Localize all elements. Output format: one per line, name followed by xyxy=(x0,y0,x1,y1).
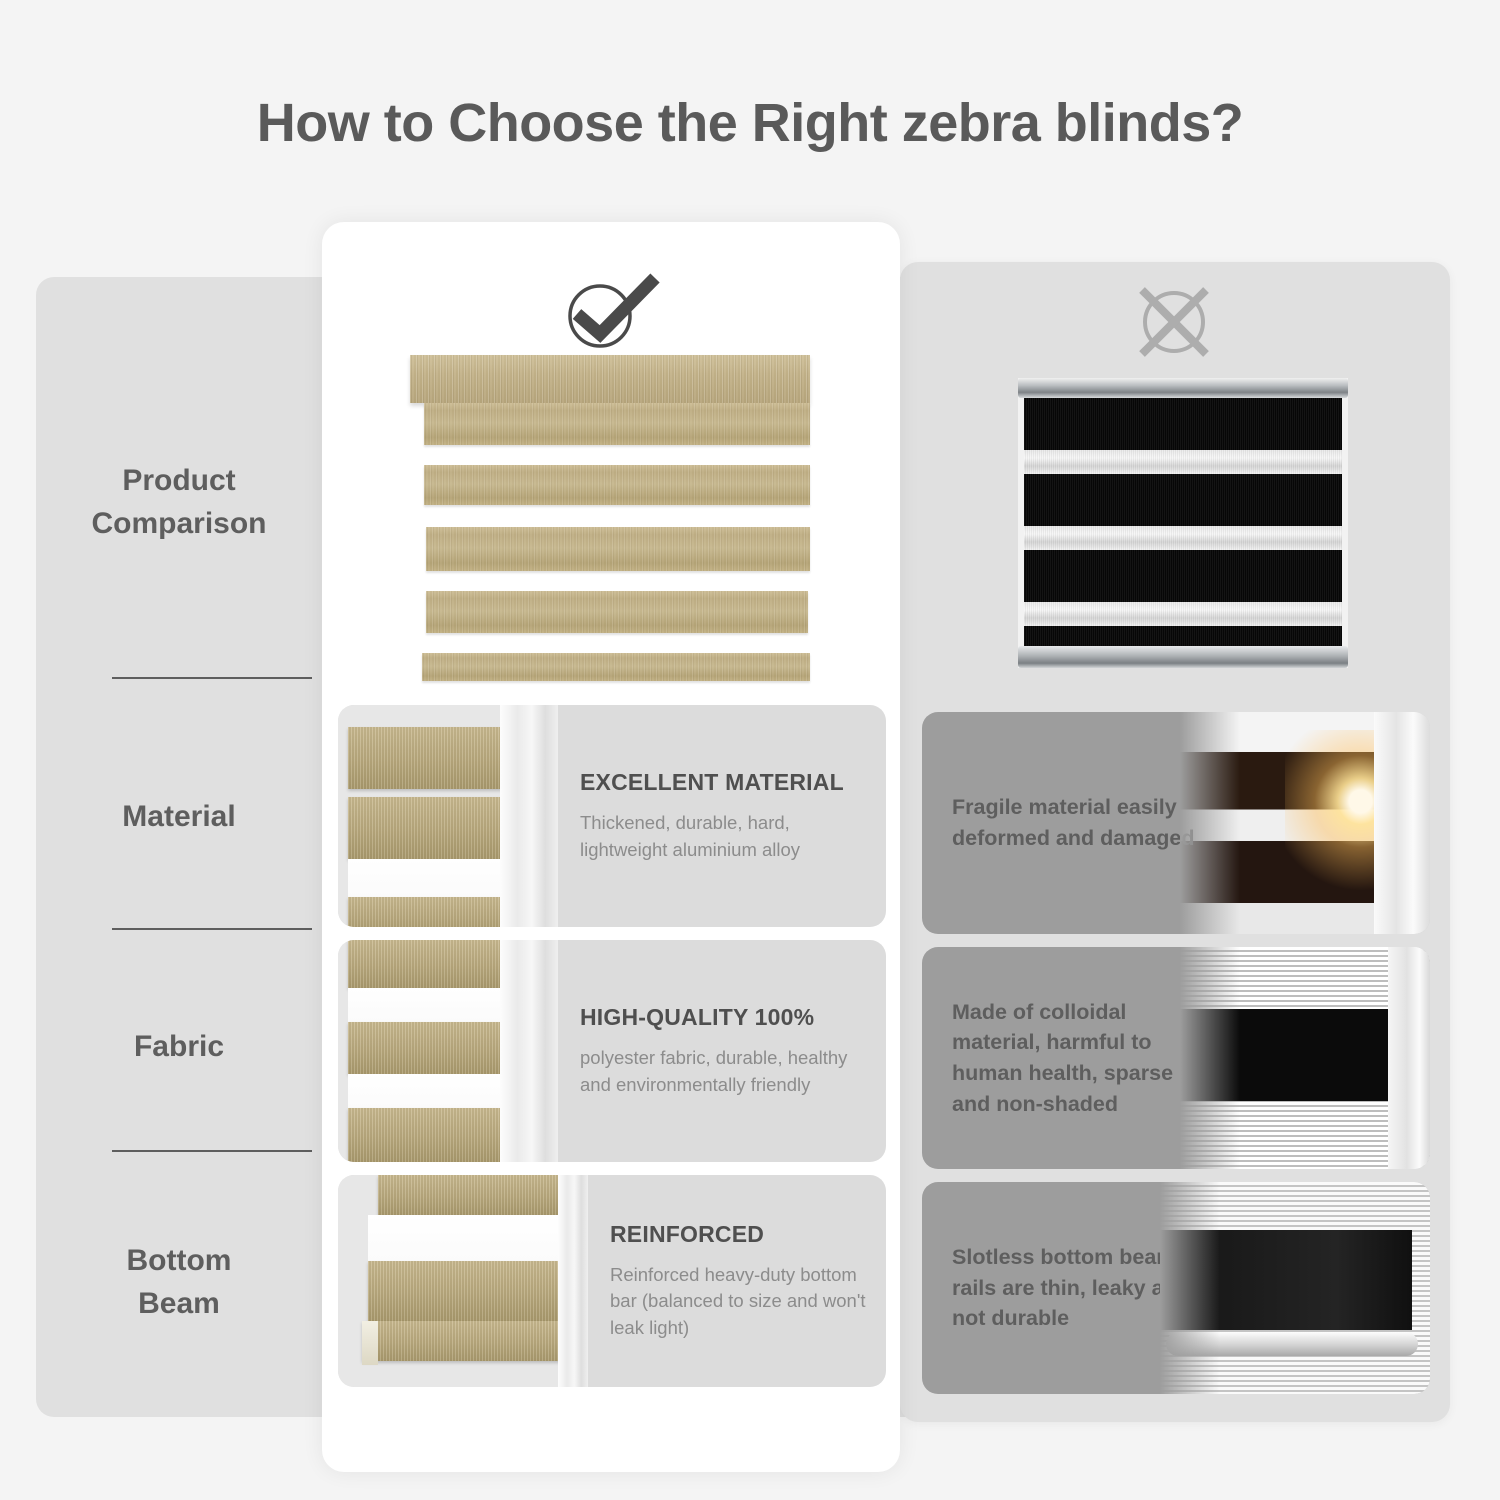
photo-fade-mask xyxy=(1180,712,1240,934)
good-card-material: EXCELLENT MATERIAL Thickened, durable, h… xyxy=(338,705,886,927)
good-slat-2 xyxy=(424,465,810,505)
sidebar-item-material: Material xyxy=(36,792,322,842)
good-card-bottom-beam: REINFORCED Reinforced heavy-duty bottom … xyxy=(338,1175,886,1387)
bad-card-bottom-beam: Slotless bottom beam rails are thin, lea… xyxy=(922,1182,1430,1394)
window-frame-edge xyxy=(1388,947,1430,1169)
blind-slat xyxy=(348,727,518,789)
window-frame xyxy=(558,1175,588,1387)
window-frame-edge xyxy=(1374,712,1430,934)
sidebar-item-bottom-beam: Bottom Beam xyxy=(36,1227,322,1337)
good-card-fabric-text: HIGH-QUALITY 100% polyester fabric, dura… xyxy=(558,940,886,1162)
bad-card-bottom-beam-photo xyxy=(1160,1182,1430,1394)
infographic-root: How to Choose the Right zebra blinds? Pr… xyxy=(0,0,1500,1500)
good-card-material-photo xyxy=(338,705,558,927)
blind-slat xyxy=(348,940,518,988)
blind-slat xyxy=(348,797,518,859)
bad-headrail xyxy=(1018,378,1348,398)
good-slat-4 xyxy=(426,591,808,633)
window-frame xyxy=(500,705,558,927)
good-card-bottom-beam-title: REINFORCED xyxy=(610,1221,868,1248)
bad-card-material-photo xyxy=(1180,712,1430,934)
good-card-bottom-beam-text: REINFORCED Reinforced heavy-duty bottom … xyxy=(588,1175,886,1387)
sidebar-label-bottom-beam: Bottom Beam xyxy=(127,1239,232,1326)
check-circle-icon xyxy=(555,272,665,350)
blind-slat xyxy=(348,1108,518,1162)
category-sidebar: Product Comparison Material Fabric Botto… xyxy=(36,277,322,1417)
bad-product-image xyxy=(1018,378,1348,668)
good-card-material-body: Thickened, durable, hard, lightweight al… xyxy=(580,810,868,863)
blind-slat xyxy=(368,1261,568,1321)
bad-card-fabric-photo xyxy=(1180,947,1430,1169)
sidebar-item-product-comparison: Product Comparison xyxy=(36,447,322,557)
sidebar-label-material: Material xyxy=(122,795,235,839)
photo-fade-mask xyxy=(1160,1182,1220,1394)
cross-circle-icon xyxy=(1128,282,1220,358)
good-headrail xyxy=(410,355,810,403)
bad-card-fabric-text: Made of colloidal material, harmful to h… xyxy=(952,947,1202,1169)
window-frame xyxy=(500,940,558,1162)
blind-sheer xyxy=(368,1215,568,1261)
bad-card-fabric: Made of colloidal material, harmful to h… xyxy=(922,947,1430,1169)
blind-slat xyxy=(348,897,518,927)
good-product-image xyxy=(410,355,810,700)
sidebar-label-product-comparison: Product Comparison xyxy=(91,459,266,546)
good-card-fabric-photo xyxy=(338,940,558,1162)
sidebar-divider-1 xyxy=(112,677,312,679)
good-card-fabric: HIGH-QUALITY 100% polyester fabric, dura… xyxy=(338,940,886,1162)
blind-sheer xyxy=(348,988,518,1022)
blind-stack xyxy=(338,1175,588,1387)
reinforced-bottom-bar xyxy=(362,1321,568,1361)
good-card-material-text: EXCELLENT MATERIAL Thickened, durable, h… xyxy=(558,705,886,927)
bottom-bar-endcap xyxy=(362,1321,378,1365)
sidebar-divider-3 xyxy=(112,1150,312,1152)
bad-card-material-text: Fragile material easily deformed and dam… xyxy=(952,712,1202,934)
blind-sheer xyxy=(348,1074,518,1108)
sidebar-divider-2 xyxy=(112,928,312,930)
bad-card-material: Fragile material easily deformed and dam… xyxy=(922,712,1430,934)
good-card-fabric-body: polyester fabric, durable, healthy and e… xyxy=(580,1045,868,1098)
sidebar-item-fabric: Fabric xyxy=(36,1022,322,1072)
blind-sheer xyxy=(348,859,518,897)
sidebar-label-fabric: Fabric xyxy=(134,1025,224,1069)
bad-bottom-rail xyxy=(1018,646,1348,668)
blind-slat xyxy=(378,1175,568,1215)
page-title: How to Choose the Right zebra blinds? xyxy=(0,92,1500,154)
blind-slat xyxy=(348,1022,518,1074)
good-slat-3 xyxy=(426,527,810,571)
photo-fade-mask xyxy=(1180,947,1240,1169)
good-bottom-bar xyxy=(422,653,810,681)
good-slat-1 xyxy=(424,403,810,445)
bad-fabric xyxy=(1024,398,1342,646)
good-card-bottom-beam-photo xyxy=(338,1175,588,1387)
good-card-fabric-title: HIGH-QUALITY 100% xyxy=(580,1004,868,1031)
good-card-material-title: EXCELLENT MATERIAL xyxy=(580,769,868,796)
good-card-bottom-beam-body: Reinforced heavy-duty bottom bar (balanc… xyxy=(610,1262,868,1341)
